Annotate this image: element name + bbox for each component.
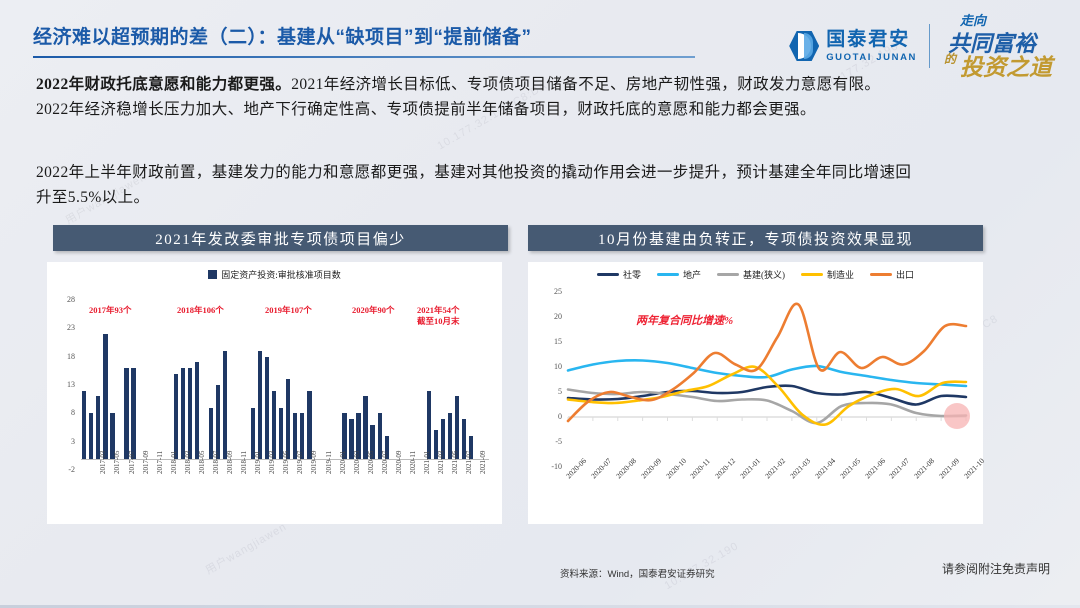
legend-line-icon: [597, 273, 619, 276]
y-axis-tick: 15: [540, 337, 562, 346]
legend-line-icon: [657, 273, 679, 276]
y-axis-tick: 3: [53, 437, 75, 446]
legend-label: 出口: [896, 268, 914, 281]
y-axis-tick: 8: [53, 408, 75, 417]
y-axis-tick: -10: [540, 462, 562, 471]
header-divider: [33, 56, 695, 58]
guotai-junan-logo-icon: [789, 31, 819, 61]
x-axis-tick: 2017-05: [113, 451, 121, 474]
x-axis-tick: 2021-01: [423, 451, 431, 474]
x-axis-tick: 2017-09: [142, 451, 150, 474]
bar-chart-year-label: 2018年106个: [177, 304, 224, 316]
y-axis-tick: 23: [53, 323, 75, 332]
legend-item: 社零: [597, 268, 641, 281]
bar: [363, 396, 367, 458]
line-chart-card: 社零地产基建(狭义)制造业出口 2520151050-5-10 2020-062…: [528, 262, 983, 524]
x-axis-tick: 2020-05: [367, 451, 375, 474]
x-axis-tick: 2018-11: [240, 451, 248, 474]
x-axis-tick: 2020-03: [353, 451, 361, 474]
line-chart-annotation: 两年复合同比增速%: [636, 312, 733, 328]
legend-item: 出口: [870, 268, 914, 281]
brand-separator: [929, 24, 930, 68]
legend-item: 地产: [657, 268, 701, 281]
bar: [89, 413, 93, 458]
x-axis-tick: 2018-03: [184, 451, 192, 474]
bar: [174, 374, 178, 459]
paragraph-1: 2022年财政托底意愿和能力都更强。2021年经济增长目标低、专项债项目储备不足…: [36, 72, 912, 122]
bar: [216, 385, 220, 459]
y-axis-tick: 18: [53, 352, 75, 361]
x-axis-tick: 2019-01: [254, 451, 262, 474]
x-axis-tick: 2018-09: [226, 451, 234, 474]
legend-item: 制造业: [801, 268, 854, 281]
bar-chart-year-label: 2017年93个: [89, 304, 132, 316]
y-axis-tick: 25: [540, 287, 562, 296]
highlight-marker: [944, 403, 970, 429]
x-axis-tick: 2019-03: [268, 451, 276, 474]
bar: [455, 396, 459, 458]
x-axis-tick: 2019-09: [310, 451, 318, 474]
source-note: 资料来源：Wind，国泰君安证券研究: [560, 566, 715, 580]
x-axis-tick: 2020-11: [409, 451, 417, 474]
company-logo: 国泰君安 GUOTAI JUNAN: [789, 30, 917, 63]
x-axis-tick: 2018-05: [198, 451, 206, 474]
x-axis-tick: 2017-07: [128, 451, 136, 474]
bar: [272, 391, 276, 459]
bar: [286, 379, 290, 458]
legend-item: 基建(狭义): [717, 268, 785, 281]
paragraph-2: 2022年上半年财政前置，基建发力的能力和意愿都更强，基建对其他投资的撬动作用会…: [36, 160, 912, 210]
bar-chart-year-label: 2019年107个: [265, 304, 312, 316]
watermark: 用户wangjiawen: [202, 518, 289, 578]
legend-swatch-icon: [208, 270, 217, 279]
slogan-line-4: 投资之道: [960, 48, 1052, 82]
campaign-slogan: 走向 共同富裕 的 投资之道: [942, 10, 1062, 82]
y-axis-tick: 10: [540, 362, 562, 371]
bar-chart-legend: 固定资产投资:审批核准项目数: [47, 262, 502, 281]
bar: [103, 334, 107, 459]
y-axis-tick: 13: [53, 380, 75, 389]
x-axis-tick: 2021-07: [465, 451, 473, 474]
legend-label: 地产: [683, 268, 701, 281]
legend-label: 社零: [623, 268, 641, 281]
bar: [427, 391, 431, 459]
legend-label: 基建(狭义): [743, 268, 785, 281]
bar: [188, 368, 192, 459]
line-chart-plot: [568, 292, 966, 467]
x-axis-tick: 2017-11: [156, 451, 164, 474]
x-axis-tick: 2021-03: [437, 451, 445, 474]
paragraph-1-lead: 2022年财政托底意愿和能力都更强。: [36, 76, 291, 93]
bar-chart-year-label: 2020年90个: [352, 304, 395, 316]
brand-name-cn: 国泰君安: [826, 30, 917, 49]
line-chart-svg: [568, 292, 966, 467]
brand-name-en: GUOTAI JUNAN: [826, 52, 917, 63]
bar: [258, 351, 262, 459]
chart-right-title: 10月份基建由负转正，专项债投资效果显现: [528, 225, 983, 251]
bar-chart-card: 固定资产投资:审批核准项目数 2823181383-2 2017-032017-…: [47, 262, 502, 524]
bar: [223, 351, 227, 459]
bar: [181, 368, 185, 459]
bar: [96, 396, 100, 458]
bar: [265, 357, 269, 459]
x-axis-tick: 2019-11: [325, 451, 333, 474]
y-axis-tick: -5: [540, 437, 562, 446]
bar: [307, 391, 311, 459]
legend-label: 固定资产投资:审批核准项目数: [221, 268, 341, 281]
x-axis-tick: 2018-07: [212, 451, 220, 474]
chart-left-title: 2021年发改委审批专项债项目偏少: [53, 225, 508, 251]
bar: [195, 362, 199, 458]
y-axis-tick: 28: [53, 295, 75, 304]
bar: [131, 368, 135, 459]
y-axis-tick: 20: [540, 312, 562, 321]
disclaimer-note: 请参阅附注免责声明: [942, 560, 1050, 577]
line-chart-legend: 社零地产基建(狭义)制造业出口: [528, 262, 983, 281]
x-axis-tick: 2019-07: [296, 451, 304, 474]
legend-line-icon: [801, 273, 823, 276]
x-axis-tick: 2020-09: [395, 451, 403, 474]
y-axis-tick: 5: [540, 387, 562, 396]
bar: [82, 391, 86, 459]
bar-chart-year-label: 截至10月末: [417, 315, 460, 327]
slogan-line-3: 的: [944, 50, 956, 67]
legend-line-icon: [717, 273, 739, 276]
x-axis-tick: 2021-05: [451, 451, 459, 474]
x-axis-tick: 2021-09: [479, 451, 487, 474]
x-axis-tick: 2020-01: [339, 451, 347, 474]
x-axis-tick: 2019-05: [282, 451, 290, 474]
x-axis-tick: 2018-01: [170, 451, 178, 474]
x-axis-tick: 2017-03: [99, 451, 107, 474]
y-axis-tick: -2: [53, 465, 75, 474]
x-axis-tick: 2020-07: [381, 451, 389, 474]
legend-item: 固定资产投资:审批核准项目数: [208, 268, 341, 281]
y-axis-tick: 0: [540, 412, 562, 421]
bar: [124, 368, 128, 459]
legend-label: 制造业: [827, 268, 854, 281]
page-title: 经济难以超预期的差（二）：基建从“缺项目”到“提前储备”: [33, 22, 532, 49]
legend-line-icon: [870, 273, 892, 276]
